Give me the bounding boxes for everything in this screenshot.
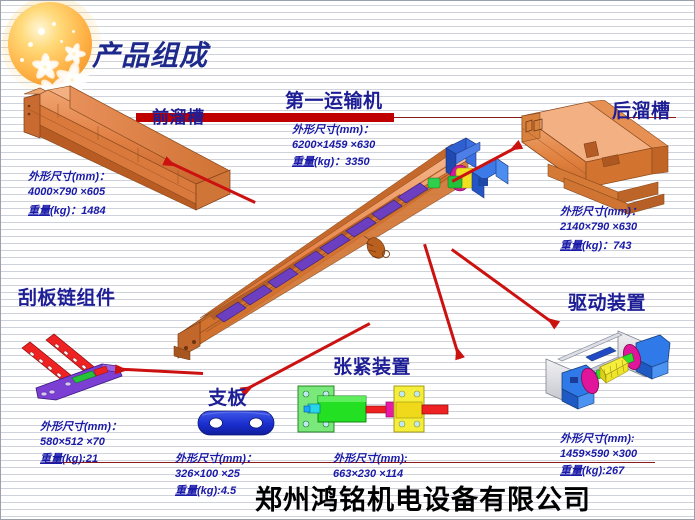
spec-scraper-chain-assembly: 外形尺寸(mm)： 580×512 ×70 重量(kg):21 <box>40 420 122 467</box>
label-support-plate: 支板 <box>208 383 247 410</box>
spec-dimension-label: 外形尺寸(mm)： <box>40 420 122 435</box>
spec-dimension-value: 1459×590 ×300 <box>560 447 637 462</box>
spec-rear-chute: 外形尺寸(mm)： 2140×790 ×630 重量(kg)：743 <box>560 205 642 254</box>
label-tensioning-device: 张紧装置 <box>333 352 411 379</box>
spec-weight-value: 3350 <box>345 156 369 168</box>
spec-weight-unit: (kg): <box>62 453 86 465</box>
spec-dimension-value: 4000×790 ×605 <box>28 185 110 200</box>
tensioning-device-illustration <box>296 382 451 444</box>
spec-dimension-value: 6200×1459 ×630 <box>292 138 375 153</box>
spec-dimension-value: 326×100 ×25 <box>175 467 257 482</box>
spec-dimension-label: 外形尺寸(mm): <box>333 452 408 467</box>
spec-weight-value: 21 <box>86 453 98 465</box>
spec-weight-value: 267 <box>606 465 624 477</box>
spec-dimension-label: 外形尺寸(mm)： <box>560 205 642 220</box>
support-plate-illustration <box>196 405 276 441</box>
label-first-conveyor: 第一运输机 <box>285 86 383 113</box>
spec-front-chute: 外形尺寸(mm)： 4000×790 ×605 重量(kg)：1484 <box>28 170 110 219</box>
label-rear-chute: 后溜槽 <box>612 96 671 123</box>
spec-dimension-value: 580×512 ×70 <box>40 435 122 450</box>
spec-weight-unit: (kg)： <box>314 156 345 168</box>
spec-weight-label: 重量 <box>292 156 314 168</box>
spec-weight-label: 重量 <box>560 465 582 477</box>
spec-dimension-label: 外形尺寸(mm)： <box>28 170 110 185</box>
spec-first-conveyor: 外形尺寸(mm)： 6200×1459 ×630 重量(kg)：3350 <box>292 123 375 170</box>
label-drive-device: 驱动装置 <box>568 288 646 315</box>
spec-support-plate: 外形尺寸(mm)： 326×100 ×25 重量(kg):4.5 <box>175 452 257 499</box>
spec-dimension-label: 外形尺寸(mm)： <box>292 123 375 138</box>
spec-weight-label: 重量 <box>560 240 582 252</box>
spec-drive-device: 外形尺寸(mm): 1459×590 ×300 重量(kg):267 <box>560 432 637 479</box>
spec-weight-unit: (kg): <box>197 485 221 497</box>
spec-weight-label: 重量 <box>40 453 62 465</box>
company-name: 郑州鸿铭机电设备有限公司 <box>255 478 591 517</box>
drive-device-illustration <box>540 325 675 415</box>
page-title: 产品组成 <box>92 34 208 74</box>
spec-weight-unit: (kg): <box>582 465 606 477</box>
presentation-slide: 产品组成 <box>0 0 695 520</box>
label-front-chute: 前溜槽 <box>152 103 205 128</box>
spec-dimension-label: 外形尺寸(mm): <box>560 432 637 447</box>
spec-weight-value: 1484 <box>81 205 105 217</box>
label-scraper-chain-assembly: 刮板链组件 <box>18 283 116 310</box>
spec-weight-unit: (kg)： <box>582 240 613 252</box>
spec-weight-value: 4.5 <box>221 485 236 497</box>
spec-weight-label: 重量 <box>175 485 197 497</box>
spec-dimension-label: 外形尺寸(mm)： <box>175 452 257 467</box>
sun-icon <box>8 2 92 86</box>
spec-weight-label: 重量 <box>28 205 50 217</box>
spec-weight-unit: (kg)： <box>50 205 81 217</box>
spec-weight-value: 743 <box>613 240 631 252</box>
spec-dimension-value: 2140×790 ×630 <box>560 220 642 235</box>
